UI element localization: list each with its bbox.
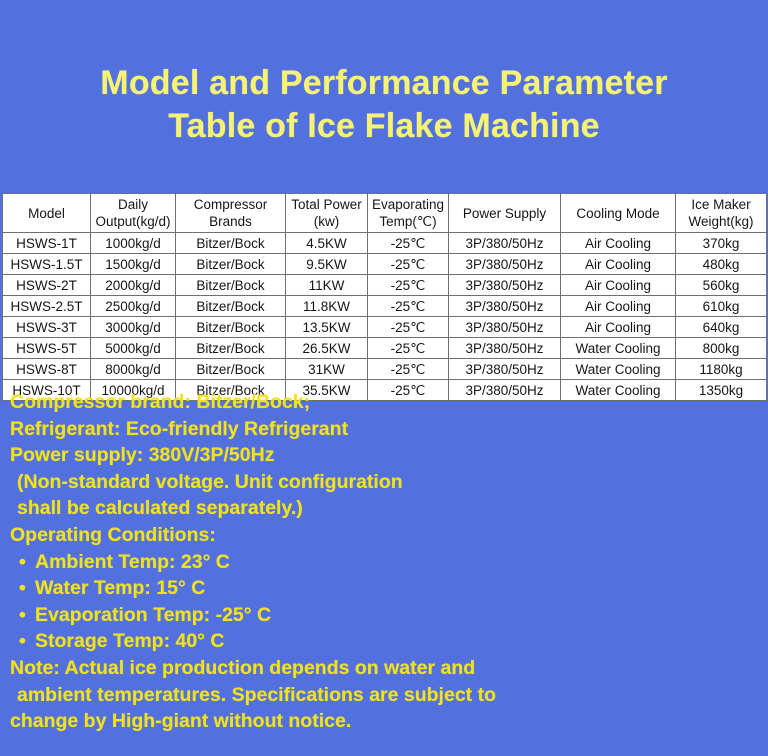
- table-cell-r5-c3: 26.5KW: [286, 338, 368, 359]
- page-title: Model and Performance Parameter Table of…: [0, 0, 768, 148]
- note-nonstandard-voltage-line-2: shall be calculated separately.): [10, 495, 758, 522]
- table-cell-r1-c6: Air Cooling: [561, 254, 676, 275]
- spec-table-head: ModelDailyOutput(kg/d)CompressorBrandsTo…: [3, 194, 767, 233]
- table-cell-r2-c4: -25℃: [368, 275, 449, 296]
- table-cell-r6-c5: 3P/380/50Hz: [449, 359, 561, 380]
- table-cell-r0-c0: HSWS-1T: [3, 233, 91, 254]
- table-cell-r4-c0: HSWS-3T: [3, 317, 91, 338]
- table-header-cell-3-line-0: Total Power: [286, 196, 367, 213]
- note-compressor-brand: Compressor brand: Bitzer/Bock;: [10, 389, 758, 416]
- table-cell-r5-c7: 800kg: [676, 338, 767, 359]
- operating-condition-ambient-temp: •Ambient Temp: 23° C: [10, 549, 758, 576]
- footer-note-line-1: Note: Actual ice production depends on w…: [10, 655, 758, 682]
- bullet-icon: •: [19, 628, 35, 655]
- table-cell-r5-c0: HSWS-5T: [3, 338, 91, 359]
- table-header-cell-0-line-0: Model: [3, 205, 90, 222]
- table-header-cell-2: CompressorBrands: [176, 194, 286, 233]
- table-cell-r4-c6: Air Cooling: [561, 317, 676, 338]
- table-cell-r6-c6: Water Cooling: [561, 359, 676, 380]
- table-cell-r0-c1: 1000kg/d: [91, 233, 176, 254]
- table-row: HSWS-1.5T1500kg/dBitzer/Bock9.5KW-25℃3P/…: [3, 254, 767, 275]
- table-cell-r1-c4: -25℃: [368, 254, 449, 275]
- table-cell-r4-c1: 3000kg/d: [91, 317, 176, 338]
- table-cell-r6-c7: 1180kg: [676, 359, 767, 380]
- table-header-cell-0: Model: [3, 194, 91, 233]
- table-cell-r6-c2: Bitzer/Bock: [176, 359, 286, 380]
- table-header-cell-5-line-0: Power Supply: [449, 205, 560, 222]
- table-cell-r3-c3: 11.8KW: [286, 296, 368, 317]
- note-operating-conditions-heading: Operating Conditions:: [10, 522, 758, 549]
- table-cell-r5-c1: 5000kg/d: [91, 338, 176, 359]
- table-cell-r5-c6: Water Cooling: [561, 338, 676, 359]
- table-header-cell-3: Total Power(kw): [286, 194, 368, 233]
- table-cell-r2-c7: 560kg: [676, 275, 767, 296]
- table-cell-r5-c4: -25℃: [368, 338, 449, 359]
- table-cell-r0-c3: 4.5KW: [286, 233, 368, 254]
- table-header-cell-4-line-0: Evaporating: [368, 196, 448, 213]
- spec-table: ModelDailyOutput(kg/d)CompressorBrandsTo…: [2, 193, 767, 401]
- operating-condition-evaporation-temp-label: Evaporation Temp: -25° C: [35, 604, 271, 626]
- table-cell-r5-c2: Bitzer/Bock: [176, 338, 286, 359]
- table-cell-r4-c7: 640kg: [676, 317, 767, 338]
- footer-note-line-3: change by High-giant without notice.: [10, 708, 758, 735]
- table-cell-r4-c3: 13.5KW: [286, 317, 368, 338]
- operating-condition-storage-temp-label: Storage Temp: 40° C: [35, 630, 224, 652]
- table-cell-r2-c5: 3P/380/50Hz: [449, 275, 561, 296]
- table-cell-r5-c5: 3P/380/50Hz: [449, 338, 561, 359]
- table-cell-r1-c3: 9.5KW: [286, 254, 368, 275]
- table-cell-r4-c2: Bitzer/Bock: [176, 317, 286, 338]
- bullet-icon: •: [19, 602, 35, 629]
- table-header-cell-4: EvaporatingTemp(℃): [368, 194, 449, 233]
- table-cell-r4-c4: -25℃: [368, 317, 449, 338]
- table-cell-r2-c6: Air Cooling: [561, 275, 676, 296]
- footer-note-line-2: ambient temperatures. Specifications are…: [10, 682, 758, 709]
- table-header-cell-1: DailyOutput(kg/d): [91, 194, 176, 233]
- page-title-line-1: Model and Performance Parameter: [0, 62, 768, 105]
- table-cell-r3-c1: 2500kg/d: [91, 296, 176, 317]
- table-header-cell-6: Cooling Mode: [561, 194, 676, 233]
- table-header-cell-2-line-0: Compressor: [176, 196, 285, 213]
- table-cell-r3-c2: Bitzer/Bock: [176, 296, 286, 317]
- table-header-cell-5: Power Supply: [449, 194, 561, 233]
- table-cell-r0-c6: Air Cooling: [561, 233, 676, 254]
- table-row: HSWS-2T2000kg/dBitzer/Bock11KW-25℃3P/380…: [3, 275, 767, 296]
- spec-table-body: HSWS-1T1000kg/dBitzer/Bock4.5KW-25℃3P/38…: [3, 233, 767, 401]
- notes-block: Compressor brand: Bitzer/Bock; Refrigera…: [10, 389, 758, 735]
- table-cell-r1-c7: 480kg: [676, 254, 767, 275]
- table-header-cell-2-line-1: Brands: [176, 213, 285, 230]
- table-header-cell-7-line-0: Ice Maker: [676, 196, 766, 213]
- bullet-icon: •: [19, 575, 35, 602]
- table-row: HSWS-1T1000kg/dBitzer/Bock4.5KW-25℃3P/38…: [3, 233, 767, 254]
- table-header-cell-7-line-1: Weight(kg): [676, 213, 766, 230]
- operating-condition-ambient-temp-label: Ambient Temp: 23° C: [35, 551, 230, 573]
- table-header-cell-7: Ice MakerWeight(kg): [676, 194, 767, 233]
- note-refrigerant: Refrigerant: Eco-friendly Refrigerant: [10, 416, 758, 443]
- operating-condition-evaporation-temp: •Evaporation Temp: -25° C: [10, 602, 758, 629]
- table-cell-r0-c2: Bitzer/Bock: [176, 233, 286, 254]
- table-cell-r3-c6: Air Cooling: [561, 296, 676, 317]
- table-header-cell-6-line-0: Cooling Mode: [561, 205, 675, 222]
- table-row: HSWS-5T5000kg/dBitzer/Bock26.5KW-25℃3P/3…: [3, 338, 767, 359]
- table-row: HSWS-3T3000kg/dBitzer/Bock13.5KW-25℃3P/3…: [3, 317, 767, 338]
- table-cell-r6-c1: 8000kg/d: [91, 359, 176, 380]
- table-cell-r3-c0: HSWS-2.5T: [3, 296, 91, 317]
- table-cell-r0-c7: 370kg: [676, 233, 767, 254]
- table-cell-r6-c4: -25℃: [368, 359, 449, 380]
- table-cell-r2-c1: 2000kg/d: [91, 275, 176, 296]
- table-header-cell-1-line-1: Output(kg/d): [91, 213, 175, 230]
- table-header-row: ModelDailyOutput(kg/d)CompressorBrandsTo…: [3, 194, 767, 233]
- table-cell-r1-c0: HSWS-1.5T: [3, 254, 91, 275]
- operating-condition-storage-temp: •Storage Temp: 40° C: [10, 628, 758, 655]
- table-cell-r3-c5: 3P/380/50Hz: [449, 296, 561, 317]
- table-cell-r2-c3: 11KW: [286, 275, 368, 296]
- note-power-supply: Power supply: 380V/3P/50Hz: [10, 442, 758, 469]
- spec-table-container: ModelDailyOutput(kg/d)CompressorBrandsTo…: [2, 193, 766, 401]
- table-cell-r6-c3: 31KW: [286, 359, 368, 380]
- table-cell-r0-c5: 3P/380/50Hz: [449, 233, 561, 254]
- table-header-cell-3-line-1: (kw): [286, 213, 367, 230]
- table-cell-r4-c5: 3P/380/50Hz: [449, 317, 561, 338]
- table-header-cell-4-line-1: Temp(℃): [368, 213, 448, 230]
- operating-condition-water-temp: •Water Temp: 15° C: [10, 575, 758, 602]
- table-cell-r2-c0: HSWS-2T: [3, 275, 91, 296]
- table-header-cell-1-line-0: Daily: [91, 196, 175, 213]
- table-cell-r3-c4: -25℃: [368, 296, 449, 317]
- table-cell-r0-c4: -25℃: [368, 233, 449, 254]
- note-nonstandard-voltage-line-1: (Non-standard voltage. Unit configuratio…: [10, 469, 758, 496]
- table-cell-r6-c0: HSWS-8T: [3, 359, 91, 380]
- operating-condition-water-temp-label: Water Temp: 15° C: [35, 577, 205, 599]
- table-row: HSWS-2.5T2500kg/dBitzer/Bock11.8KW-25℃3P…: [3, 296, 767, 317]
- bullet-icon: •: [19, 549, 35, 576]
- table-cell-r1-c2: Bitzer/Bock: [176, 254, 286, 275]
- table-row: HSWS-8T8000kg/dBitzer/Bock31KW-25℃3P/380…: [3, 359, 767, 380]
- table-cell-r1-c5: 3P/380/50Hz: [449, 254, 561, 275]
- page-title-line-2: Table of Ice Flake Machine: [0, 105, 768, 148]
- table-cell-r2-c2: Bitzer/Bock: [176, 275, 286, 296]
- table-cell-r1-c1: 1500kg/d: [91, 254, 176, 275]
- table-cell-r3-c7: 610kg: [676, 296, 767, 317]
